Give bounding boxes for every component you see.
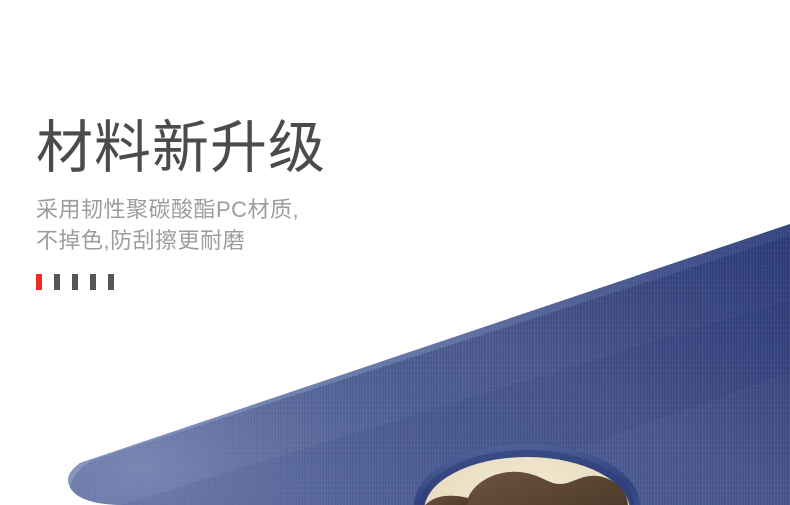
subtitle-line-1: 采用韧性聚碳酸酯PC材质, xyxy=(36,194,326,225)
tick-bar-5 xyxy=(108,274,114,290)
subtitle-block: 采用韧性聚碳酸酯PC材质, 不掉色,防刮擦更耐磨 xyxy=(36,194,326,256)
decorative-tick-bars xyxy=(36,274,326,290)
subtitle-line-2: 不掉色,防刮擦更耐磨 xyxy=(36,225,326,256)
tick-bar-4 xyxy=(90,274,96,290)
tick-bar-3 xyxy=(72,274,78,290)
copy-block: 材料新升级 采用韧性聚碳酸酯PC材质, 不掉色,防刮擦更耐磨 xyxy=(36,118,326,290)
page-title: 材料新升级 xyxy=(36,118,326,180)
tick-bar-1 xyxy=(36,274,42,290)
promo-banner: 材料新升级 采用韧性聚碳酸酯PC材质, 不掉色,防刮擦更耐磨 xyxy=(0,0,790,505)
tick-bar-2 xyxy=(54,274,60,290)
